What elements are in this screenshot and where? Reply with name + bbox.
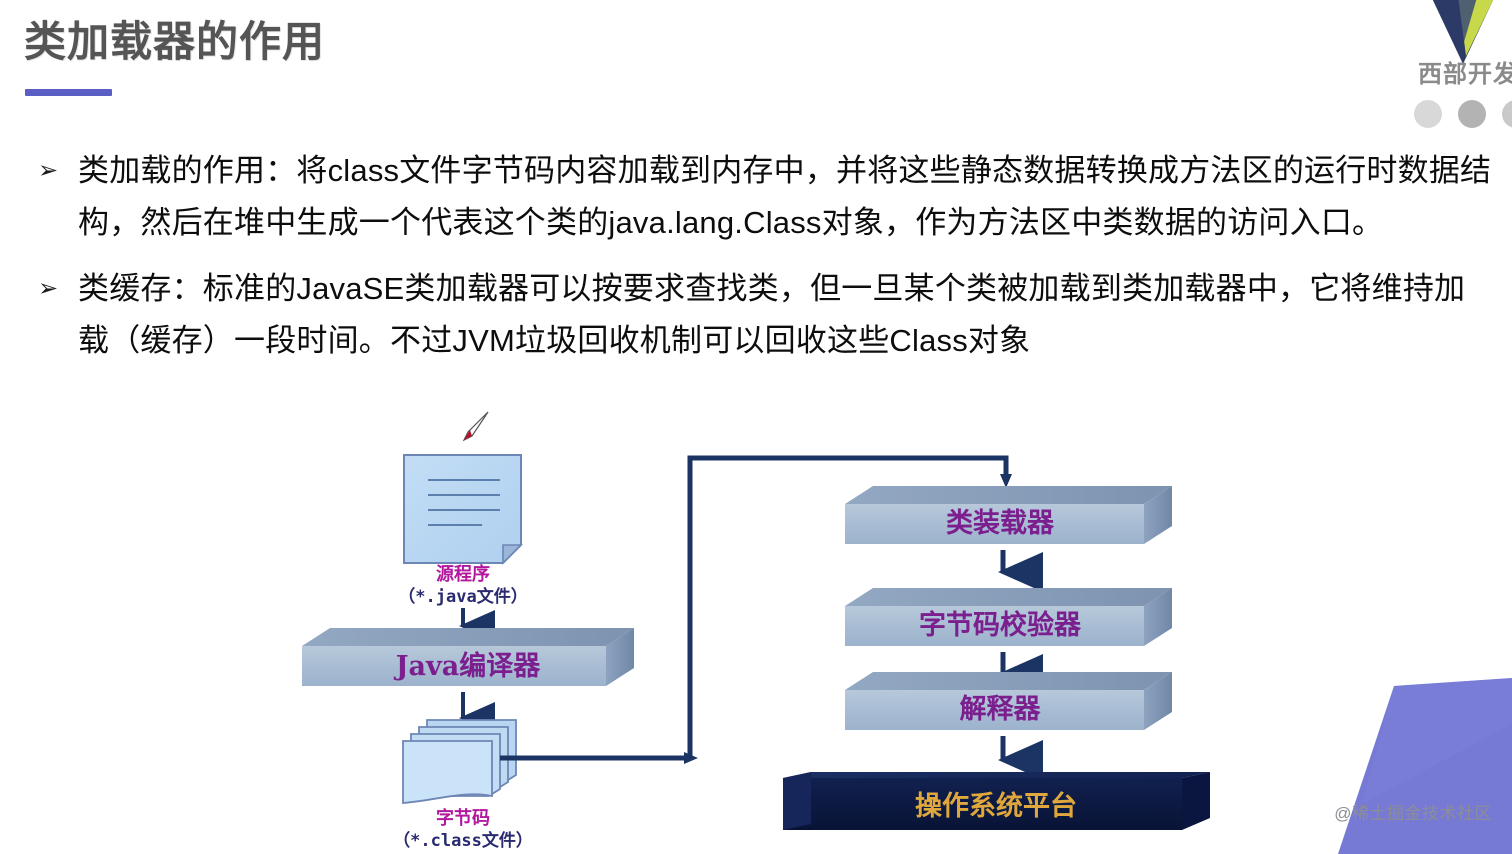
logo-dot-1 [1414,100,1442,128]
bytecode-verifier-box-label: 字节码校验器 [919,609,1082,641]
logo-dot-3 [1502,100,1512,128]
bullet-text: 类缓存：标准的JavaSE类加载器可以按要求查找类，但一旦某个类被加载到类加载器… [78,263,1494,367]
source-doc-label-bottom: （*.java文件） [398,586,527,607]
interpreter-box-label: 解释器 [960,694,1042,725]
classloader-box-label: 类装载器 [946,508,1055,539]
source-doc-label-top: 源程序 [436,563,490,585]
bullet-text: 类加载的作用：将class文件字节码内容加载到内存中，并将这些静态数据转换成方法… [78,145,1494,249]
bullet-item: ➢ 类缓存：标准的JavaSE类加载器可以按要求查找类，但一旦某个类被加载到类加… [34,263,1494,367]
title-underline [25,89,112,96]
logo-dot-2 [1458,100,1486,128]
logo-brand-text: 西部开发 [1418,54,1512,89]
bullet-marker-icon: ➢ [34,145,78,197]
page-title: 类加载器的作用 [24,8,325,69]
logo-dots [1414,100,1512,128]
os-platform-box-label: 操作系统平台 [915,790,1077,822]
bytecode-label-bottom: （*.class文件） [393,830,533,851]
bullet-marker-icon: ➢ [34,263,78,315]
brand-logo: 西部开发 [1400,0,1512,140]
source-document-icon [404,455,521,563]
watermark-text: @稀土掘金技术社区 [1334,799,1492,824]
bytecode-stack-icon [403,720,516,803]
bullet-item: ➢ 类加载的作用：将class文件字节码内容加载到内存中，并将这些静态数据转换成… [34,145,1494,249]
bytecode-label-top: 字节码 [436,807,490,829]
bullet-list: ➢ 类加载的作用：将class文件字节码内容加载到内存中，并将这些静态数据转换成… [34,145,1494,381]
classloading-flow-diagram: 源程序 （*.java文件） Java编译器 字节码 （*.class文件） [0,430,1512,854]
slide-root: 类加载器的作用 西部开发 ➢ 类加载的作用：将class文件字节码内容加载到内存… [0,0,1512,854]
compiler-box-label: Java编译器 [394,650,541,682]
